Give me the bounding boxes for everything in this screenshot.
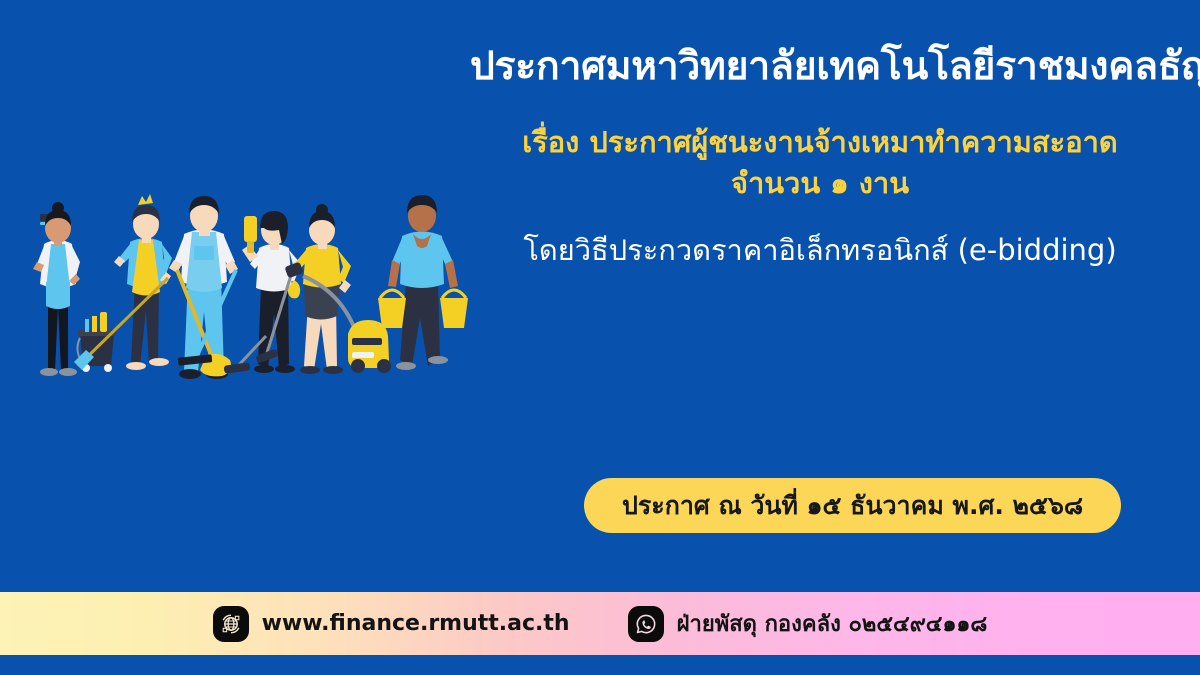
figure-woman-with-duster [224, 211, 301, 374]
figure-man-with-buckets [378, 195, 468, 370]
announcement-subject: เรื่อง ประกาศผู้ชนะงานจ้างเหมาทำความสะอา… [470, 122, 1170, 204]
figure-woman-with-card [33, 202, 80, 376]
cleaning-staff-illustration [18, 186, 468, 391]
footer-website-label: www.finance.rmutt.ac.th [262, 611, 570, 636]
globe-web-icon [213, 606, 249, 642]
whatsapp-phone-icon [628, 606, 664, 642]
footer-phone-label: ฝ่ายพัสดุ กองคลัง ๐๒๕๔๙๔๑๑๘ [677, 606, 988, 641]
announcement-date-badge: ประกาศ ณ วันที่ ๑๕ ธันวาคม พ.ศ. ๒๕๖๘ [584, 478, 1121, 533]
footer-phone-item[interactable]: ฝ่ายพัสดุ กองคลัง ๐๒๕๔๙๔๑๑๘ [628, 606, 988, 642]
contact-footer-band: www.finance.rmutt.ac.th ฝ่ายพัสดุ กองคลั… [0, 592, 1200, 655]
figure-man-blue-overalls [169, 196, 238, 379]
announcement-text-block: ประกาศมหาวิทยาลัยเทคโนโลยีราชมงคลธัญบุรี… [470, 42, 1170, 271]
announcement-poster: ประกาศมหาวิทยาลัยเทคโนโลยีราชมงคลธัญบุรี… [0, 0, 1200, 675]
procurement-method-line: โดยวิธีประกวดราคาอิเล็กทรอนิกส์ (e-biddi… [470, 230, 1170, 271]
subject-line-1: เรื่อง ประกาศผู้ชนะงานจ้างเหมาทำความสะอา… [470, 122, 1170, 163]
page-title: ประกาศมหาวิทยาลัยเทคโนโลยีราชมงคลธัญบุรี [470, 42, 1170, 92]
footer-website-item[interactable]: www.finance.rmutt.ac.th [213, 606, 570, 642]
subject-line-2: จำนวน ๑ งาน [470, 163, 1170, 204]
